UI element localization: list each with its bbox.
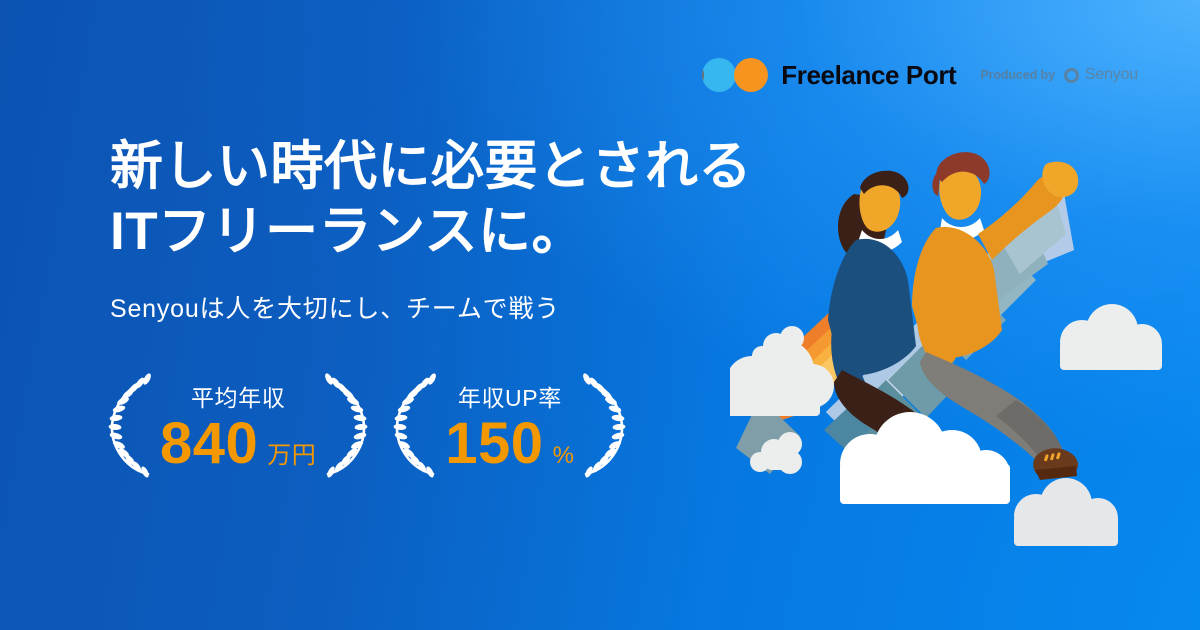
laurel-wreath-icon [108, 372, 156, 480]
brand-logo-bar[interactable]: Freelance Port Produced by Senyou [702, 58, 1138, 92]
page-title: 新しい時代に必要とされる ITフリーランスに。 [110, 135, 752, 264]
two-people-riding-rocket-illustration [730, 130, 1200, 550]
stat-income-up-rate: 年収UP率 150 % [393, 372, 626, 480]
logo-circle-right [734, 58, 768, 92]
brand-name: Freelance Port [781, 60, 956, 91]
hero-banner: Freelance Port Produced by Senyou 新しい時代に… [0, 0, 1200, 630]
produced-by-label: Produced by [980, 68, 1055, 82]
stat-body: 年収UP率 150 % [441, 379, 578, 473]
stat-body: 平均年収 840 万円 [156, 379, 320, 473]
stat-value: 840 万円 [160, 415, 316, 473]
stat-average-annual-income: 平均年収 840 万円 [108, 372, 368, 480]
laurel-wreath-icon [393, 372, 441, 480]
stat-number: 840 [160, 415, 258, 473]
stats-row: 平均年収 840 万円 [108, 372, 626, 480]
stat-unit: % [553, 442, 575, 470]
stat-number: 150 [445, 415, 543, 473]
stat-value: 150 % [445, 415, 574, 473]
laurel-wreath-icon [578, 372, 626, 480]
producer-name: Senyou [1085, 66, 1138, 84]
produced-by-group[interactable]: Produced by Senyou [980, 66, 1138, 84]
two-overlapping-circles-icon [702, 58, 768, 92]
subheadline: Senyouは人を大切にし、チームで戦う [110, 289, 752, 325]
stat-unit: 万円 [267, 435, 316, 470]
stat-label: 平均年収 [191, 379, 285, 413]
cloud-right-mid [1060, 304, 1162, 370]
laurel-wreath-icon [320, 372, 368, 480]
shoe [1033, 448, 1078, 480]
stat-label: 年収UP率 [458, 379, 562, 413]
senyou-ring-icon [1064, 68, 1079, 83]
headline-line-2: ITフリーランスに。 [110, 200, 752, 265]
logo-circle-overlap [670, 58, 736, 92]
headline-line-1: 新しい時代に必要とされる [110, 137, 752, 196]
hero-copy: 新しい時代に必要とされる ITフリーランスに。 Senyouは人を大切にし、チー… [110, 135, 752, 325]
cloud-bottom-right [1014, 478, 1118, 546]
